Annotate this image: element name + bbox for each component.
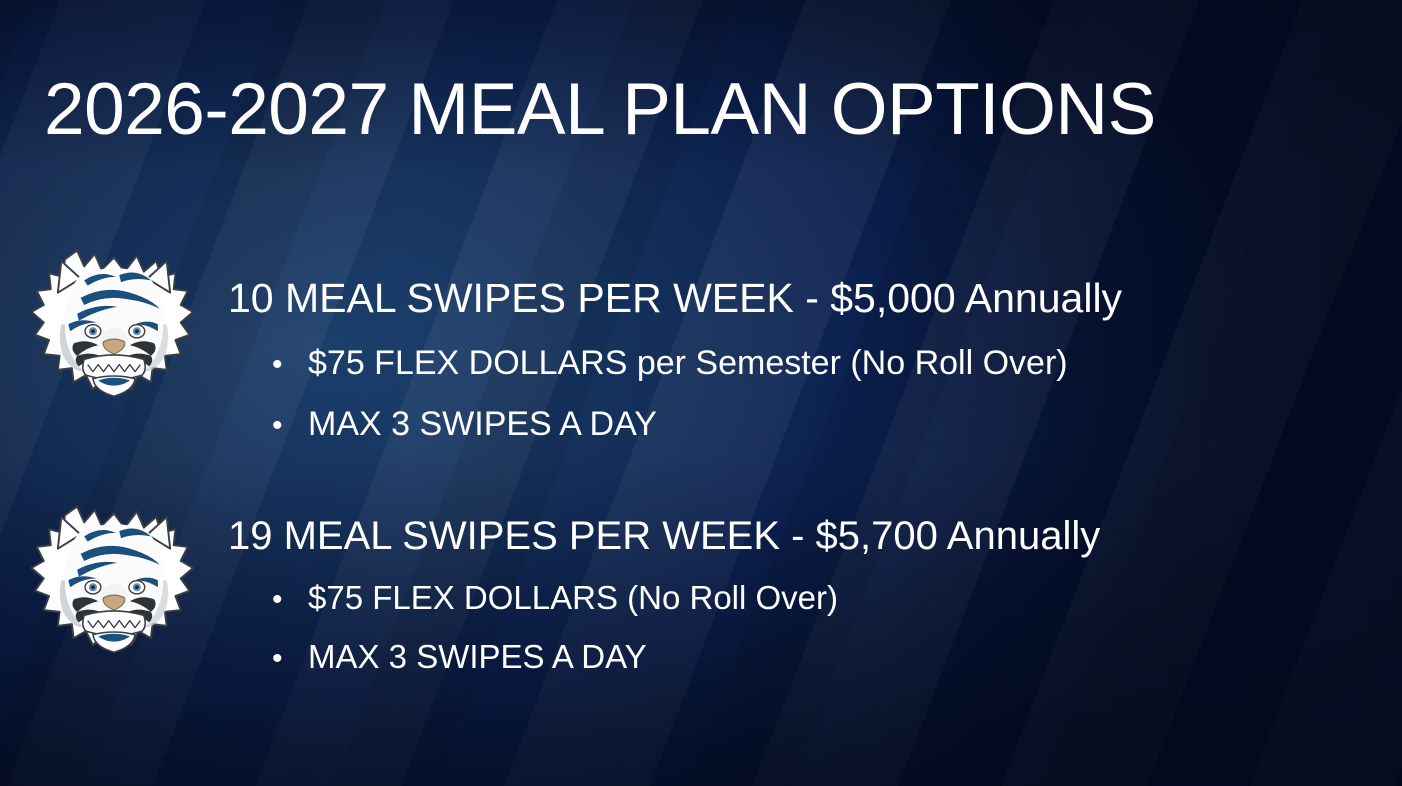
bullet-dot-icon: • [272,411,308,441]
page-title: 2026-2027 MEAL PLAN OPTIONS [44,73,1156,146]
list-item-label: MAX 3 SWIPES A DAY [308,640,647,673]
bullet-dot-icon: • [272,350,308,380]
white-tiger-head-icon [26,240,202,412]
meal-plan-slide: 2026-2027 MEAL PLAN OPTIONS [0,0,1402,786]
bullet-dot-icon: • [272,644,308,674]
plan-1-heading: 10 MEAL SWIPES PER WEEK - $5,000 Annuall… [228,234,1392,319]
plan-1-bullet-list: • $75 FLEX DOLLARS per Semester (No Roll… [228,346,1392,441]
plan-1-body: 10 MEAL SWIPES PER WEEK - $5,000 Annuall… [228,234,1392,441]
slide-content: 2026-2027 MEAL PLAN OPTIONS [0,0,1402,786]
plan-2-heading: 19 MEAL SWIPES PER WEEK - $5,700 Annuall… [228,472,1392,556]
bullet-dot-icon: • [272,585,308,615]
white-tiger-head-icon [26,496,202,668]
list-item-label: $75 FLEX DOLLARS (No Roll Over) [308,581,838,614]
plan-2-body: 19 MEAL SWIPES PER WEEK - $5,700 Annuall… [228,472,1392,674]
plan-2-bullet-list: • $75 FLEX DOLLARS (No Roll Over) • MAX … [228,581,1392,674]
list-item-label: $75 FLEX DOLLARS per Semester (No Roll O… [308,346,1068,380]
list-item: • $75 FLEX DOLLARS (No Roll Over) [228,581,1392,615]
list-item-label: MAX 3 SWIPES A DAY [308,407,657,441]
list-item: • $75 FLEX DOLLARS per Semester (No Roll… [228,346,1392,380]
list-item: • MAX 3 SWIPES A DAY [228,407,1392,441]
list-item: • MAX 3 SWIPES A DAY [228,640,1392,674]
